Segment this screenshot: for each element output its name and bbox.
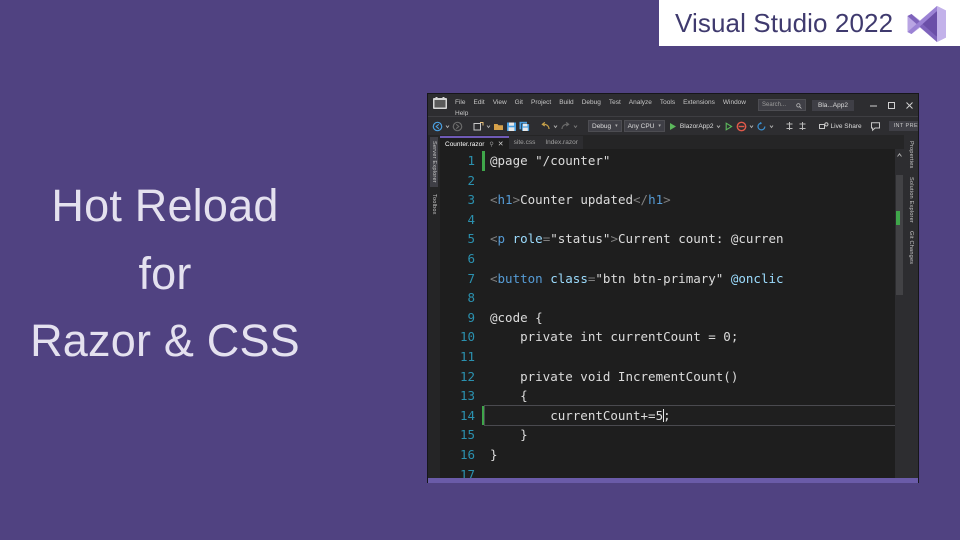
change-marker bbox=[896, 211, 900, 225]
document-tab-strip: Counter.razor ⚲ ✕ site.css Index.razor bbox=[440, 135, 904, 149]
sidebar-item-server-explorer[interactable]: Server Explorer bbox=[430, 137, 438, 187]
code-line: 9@code { bbox=[440, 308, 904, 328]
code-line: 8 bbox=[440, 288, 904, 308]
code-token: p bbox=[498, 231, 506, 246]
close-icon[interactable] bbox=[900, 94, 918, 116]
chevron-down-icon: ▾ bbox=[658, 123, 661, 129]
line-number: 8 bbox=[440, 288, 482, 308]
search-icon bbox=[796, 103, 802, 109]
brand-title: Visual Studio 2022 bbox=[675, 8, 893, 39]
line-change-marker bbox=[482, 288, 485, 308]
code-line: 16} bbox=[440, 445, 904, 465]
line-change-marker bbox=[482, 171, 485, 191]
window-bottom-cutoff-strip bbox=[428, 478, 918, 483]
line-number: 6 bbox=[440, 249, 482, 269]
platform-value: Any CPU bbox=[628, 123, 655, 130]
line-number: 4 bbox=[440, 210, 482, 230]
chevron-down-icon: ▾ bbox=[615, 123, 618, 129]
line-number: 3 bbox=[440, 190, 482, 210]
code-token: h1 bbox=[648, 192, 663, 207]
line-number: 5 bbox=[440, 229, 482, 249]
platform-select[interactable]: Any CPU ▾ bbox=[624, 120, 665, 132]
live-share-icon[interactable] bbox=[818, 121, 829, 132]
undo-icon[interactable] bbox=[540, 121, 551, 132]
sidebar-item-git-changes[interactable]: Git Changes bbox=[907, 227, 915, 268]
step-into-icon[interactable] bbox=[797, 121, 808, 132]
window-titlebar: File Edit View Git Project Build Debug T… bbox=[428, 94, 918, 116]
tab-site-css[interactable]: site.css bbox=[509, 136, 541, 149]
line-number: 14 bbox=[440, 406, 482, 426]
headline-line-2: for bbox=[0, 240, 330, 308]
code-token: @code { bbox=[490, 310, 543, 325]
line-number: 1 bbox=[440, 151, 482, 171]
menu-item-view[interactable]: View bbox=[489, 97, 511, 108]
code-token: Current count: @curren bbox=[618, 231, 784, 246]
code-line: 15 } bbox=[440, 425, 904, 445]
headline-line-1: Hot Reload bbox=[0, 172, 330, 240]
code-token: button bbox=[498, 271, 543, 286]
open-file-icon[interactable] bbox=[493, 121, 504, 132]
maximize-icon[interactable] bbox=[882, 94, 900, 116]
code-token: @page bbox=[490, 153, 535, 168]
code-editor[interactable]: 1@page "/counter"23<h1>Counter updated</… bbox=[440, 149, 904, 482]
line-number: 16 bbox=[440, 445, 482, 465]
code-line: 11 bbox=[440, 347, 904, 367]
code-token: < bbox=[490, 231, 498, 246]
menu-item-project[interactable]: Project bbox=[527, 97, 555, 108]
headline-line-3: Razor & CSS bbox=[0, 307, 330, 375]
code-token: </ bbox=[633, 192, 648, 207]
menu-item-window[interactable]: Window bbox=[719, 97, 750, 108]
code-token: class bbox=[550, 271, 588, 286]
search-placeholder: Search... bbox=[762, 102, 786, 108]
code-token: > bbox=[513, 192, 521, 207]
menu-item-extensions[interactable]: Extensions bbox=[679, 97, 719, 108]
code-token: < bbox=[490, 192, 498, 207]
line-number: 7 bbox=[440, 269, 482, 289]
tab-index-razor[interactable]: Index.razor bbox=[540, 136, 583, 149]
hot-reload-chevron-down-icon[interactable] bbox=[749, 121, 754, 132]
tab-site-css-label: site.css bbox=[514, 139, 536, 146]
menu-item-edit[interactable]: Edit bbox=[469, 97, 488, 108]
back-dropdown-chevron-down-icon[interactable] bbox=[445, 121, 450, 132]
menu-item-tools[interactable]: Tools bbox=[656, 97, 679, 108]
hot-reload-icon[interactable] bbox=[736, 121, 747, 132]
code-line-text[interactable]: <h1>Counter updated</h1> bbox=[485, 190, 904, 210]
code-token: private int currentCount = 0; bbox=[490, 329, 738, 344]
code-line: 7<button class="btn btn-primary" @onclic bbox=[440, 269, 904, 289]
code-line: 4 bbox=[440, 210, 904, 230]
close-tab-icon[interactable]: ✕ bbox=[498, 140, 504, 148]
code-line: 12 private void IncrementCount() bbox=[440, 367, 904, 387]
visual-studio-logo-icon bbox=[907, 5, 947, 43]
solution-name-badge[interactable]: Bla...App2 bbox=[812, 100, 854, 111]
menu-item-analyze[interactable]: Analyze bbox=[625, 97, 656, 108]
search-input[interactable]: Search... bbox=[758, 99, 806, 111]
line-change-marker bbox=[482, 347, 485, 367]
scrollbar-thumb[interactable] bbox=[896, 175, 903, 295]
code-token: "status" bbox=[550, 231, 610, 246]
save-icon[interactable] bbox=[506, 121, 517, 132]
start-without-debug-icon[interactable] bbox=[723, 121, 734, 132]
code-line-text[interactable]: private void IncrementCount() bbox=[485, 367, 904, 387]
menu-item-test[interactable]: Test bbox=[605, 97, 625, 108]
line-number: 15 bbox=[440, 425, 482, 445]
code-token: @onclic bbox=[731, 271, 784, 286]
navigate-back-icon[interactable] bbox=[432, 121, 443, 132]
code-token: } bbox=[490, 447, 498, 462]
slide-headline: Hot Reload for Razor & CSS bbox=[0, 172, 330, 375]
live-share-label[interactable]: Live Share bbox=[831, 123, 862, 130]
code-line: 1@page "/counter" bbox=[440, 151, 904, 171]
line-number: 9 bbox=[440, 308, 482, 328]
tab-counter-razor[interactable]: Counter.razor ⚲ ✕ bbox=[440, 136, 509, 149]
new-project-chevron-down-icon[interactable] bbox=[486, 121, 491, 132]
code-line-text[interactable]: } bbox=[485, 445, 904, 465]
code-line: 13 { bbox=[440, 386, 904, 406]
tab-counter-razor-label: Counter.razor bbox=[445, 141, 484, 148]
code-lines: 1@page "/counter"23<h1>Counter updated</… bbox=[440, 151, 904, 482]
code-token: ; bbox=[663, 408, 671, 423]
code-token: role bbox=[513, 231, 543, 246]
code-line: 10 private int currentCount = 0; bbox=[440, 327, 904, 347]
code-line-text[interactable]: @page "/counter" bbox=[485, 151, 904, 171]
code-token: private void IncrementCount() bbox=[490, 369, 738, 384]
build-configuration-select[interactable]: Debug ▾ bbox=[588, 120, 622, 132]
run-target-label[interactable]: BlazorApp2 bbox=[680, 123, 714, 130]
code-line-text[interactable]: @code { bbox=[485, 308, 904, 328]
line-number: 13 bbox=[440, 386, 482, 406]
tab-index-razor-label: Index.razor bbox=[545, 139, 578, 146]
line-number: 10 bbox=[440, 327, 482, 347]
code-line-text[interactable]: { bbox=[485, 386, 904, 406]
visual-studio-window: File Edit View Git Project Build Debug T… bbox=[428, 94, 918, 482]
start-debug-play-icon[interactable] bbox=[667, 121, 678, 132]
visual-studio-small-icon bbox=[433, 97, 447, 110]
build-configuration-value: Debug bbox=[592, 123, 611, 130]
left-tool-rail: Server Explorer Toolbox bbox=[428, 135, 440, 482]
line-number: 11 bbox=[440, 347, 482, 367]
line-number: 12 bbox=[440, 367, 482, 387]
code-token: } bbox=[490, 427, 528, 442]
right-tool-rail: Properties Solution Explorer Git Changes bbox=[904, 135, 918, 482]
code-token: > bbox=[610, 231, 618, 246]
sidebar-item-solution-explorer[interactable]: Solution Explorer bbox=[907, 173, 915, 227]
menu-item-debug[interactable]: Debug bbox=[578, 97, 605, 108]
editor-column: Counter.razor ⚲ ✕ site.css Index.razor 1… bbox=[440, 135, 904, 482]
code-token: > bbox=[663, 192, 671, 207]
code-line-text[interactable]: private int currentCount = 0; bbox=[485, 327, 904, 347]
preview-badge: INT PREVIEW bbox=[889, 121, 918, 131]
code-token bbox=[505, 231, 513, 246]
menu-item-file[interactable]: File bbox=[451, 97, 469, 108]
restart-icon[interactable] bbox=[756, 121, 767, 132]
feedback-icon[interactable] bbox=[870, 121, 881, 132]
scroll-up-icon[interactable] bbox=[896, 151, 903, 160]
minimize-icon[interactable] bbox=[864, 94, 882, 116]
undo-chevron-down-icon[interactable] bbox=[553, 121, 558, 132]
code-line: 2 bbox=[440, 171, 904, 191]
menu-item-git[interactable]: Git bbox=[511, 97, 527, 108]
titlebar-right-group: Search... Bla...App2 bbox=[758, 94, 918, 116]
menu-item-build[interactable]: Build bbox=[555, 97, 577, 108]
editor-vertical-scrollbar[interactable] bbox=[895, 149, 904, 482]
line-change-marker bbox=[482, 249, 485, 269]
navigate-forward-icon[interactable] bbox=[452, 121, 463, 132]
code-line: 14 currentCount+=5; bbox=[440, 406, 904, 426]
code-token bbox=[723, 271, 731, 286]
code-token: { bbox=[490, 388, 528, 403]
code-token: < bbox=[490, 271, 498, 286]
code-line: 6 bbox=[440, 249, 904, 269]
pin-icon[interactable]: ⚲ bbox=[489, 141, 493, 148]
window-body: Server Explorer Toolbox Counter.razor ⚲ … bbox=[428, 135, 918, 482]
new-project-icon[interactable] bbox=[473, 121, 484, 132]
code-line: 3<h1>Counter updated</h1> bbox=[440, 190, 904, 210]
restart-chevron-down-icon[interactable] bbox=[769, 121, 774, 132]
line-change-marker bbox=[482, 210, 485, 230]
run-target-chevron-down-icon[interactable] bbox=[716, 121, 721, 132]
code-token: "/counter" bbox=[535, 153, 610, 168]
code-token: Counter updated bbox=[520, 192, 633, 207]
standard-toolbar: Debug ▾ Any CPU ▾ BlazorApp2 bbox=[428, 116, 918, 135]
sidebar-item-toolbox[interactable]: Toolbox bbox=[430, 190, 438, 219]
code-line-text[interactable]: <p role="status">Current count: @curren bbox=[485, 229, 904, 249]
code-token: currentCount+=5 bbox=[490, 408, 663, 423]
code-token: "btn btn-primary" bbox=[595, 271, 723, 286]
code-line-text[interactable]: } bbox=[485, 425, 904, 445]
code-line-text[interactable]: <button class="btn btn-primary" @onclic bbox=[485, 269, 904, 289]
redo-chevron-down-icon[interactable] bbox=[573, 121, 578, 132]
line-number: 2 bbox=[440, 171, 482, 191]
sidebar-item-properties[interactable]: Properties bbox=[907, 137, 915, 173]
code-token: h1 bbox=[498, 192, 513, 207]
redo-icon[interactable] bbox=[560, 121, 571, 132]
step-over-icon[interactable] bbox=[784, 121, 795, 132]
code-line-text[interactable]: currentCount+=5; bbox=[485, 406, 904, 426]
save-all-icon[interactable] bbox=[519, 121, 530, 132]
code-line: 5<p role="status">Current count: @curren bbox=[440, 229, 904, 249]
